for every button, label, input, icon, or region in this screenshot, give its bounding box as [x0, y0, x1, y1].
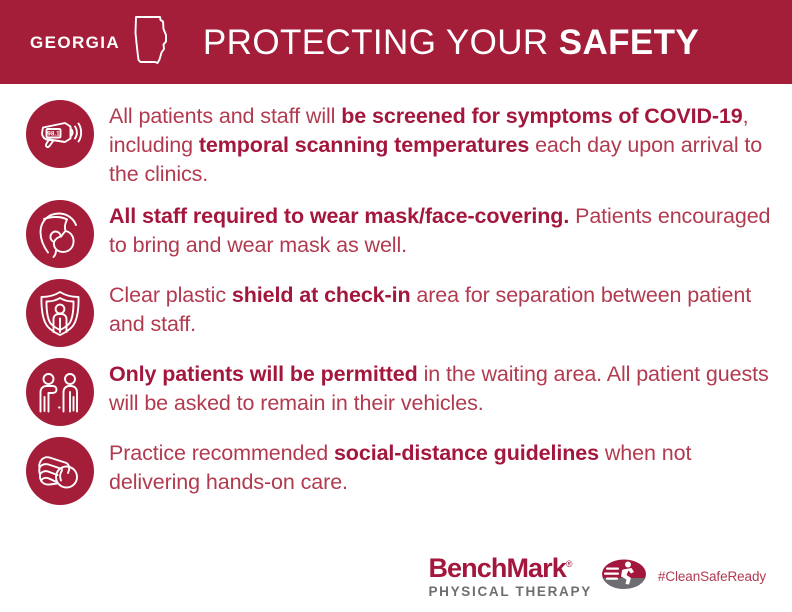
two-people-distance-icon — [26, 358, 94, 426]
benchmark-brand-subtitle: PHYSICAL THERAPY — [428, 585, 591, 599]
benchmark-brand-name: BenchMark® — [428, 555, 571, 582]
list-item: All staff required to wear mask/face-cov… — [26, 198, 778, 268]
safety-poster: GEORGIA PROTECTING YOUR SAFETY — [0, 0, 792, 612]
list-item-text: Practice recommended social-distance gui… — [94, 435, 778, 497]
benchmark-runner-swoosh-icon — [601, 557, 647, 596]
text-segment-bold: Only patients will be permitted — [109, 362, 418, 386]
list-item: Only patients will be permitted in the w… — [26, 356, 778, 426]
text-segment: Practice recommended — [109, 441, 334, 465]
thermometer-reading: 98.1 — [47, 131, 60, 138]
list-item-text: All patients and staff will be screened … — [94, 98, 778, 189]
safety-measures-list: 98.1 All patients and staff will be scre… — [0, 84, 792, 505]
list-item: Practice recommended social-distance gui… — [26, 435, 778, 505]
text-segment-bold: shield at check-in — [232, 283, 411, 307]
list-item-text: Clear plastic shield at check-in area fo… — [94, 277, 778, 339]
text-segment-bold: temporal scanning temperatures — [199, 133, 529, 157]
list-item-text: Only patients will be permitted in the w… — [94, 356, 778, 418]
shield-person-icon — [26, 279, 94, 347]
list-item-text: All staff required to wear mask/face-cov… — [94, 198, 778, 260]
thermometer-gun-icon: 98.1 — [26, 100, 94, 168]
page-title-regular: PROTECTING YOUR — [203, 23, 559, 62]
page-title: PROTECTING YOUR SAFETY — [170, 25, 768, 60]
face-mask-profile-icon — [26, 200, 94, 268]
text-segment: All patients and staff will — [109, 104, 341, 128]
list-item: 98.1 All patients and staff will be scre… — [26, 98, 778, 189]
footer-branding: BenchMark® PHYSICAL THERAPY #CleanSafeRe… — [428, 555, 766, 599]
georgia-label: GEORGIA — [30, 34, 120, 51]
manual-therapy-hands-icon — [26, 437, 94, 505]
list-item: Clear plastic shield at check-in area fo… — [26, 277, 778, 347]
page-title-bold: SAFETY — [559, 23, 699, 62]
georgia-state-outline-icon — [130, 13, 170, 72]
georgia-brand-lockup: GEORGIA — [30, 13, 170, 72]
text-segment-bold: All staff required to wear mask/face-cov… — [109, 204, 569, 228]
text-segment-bold: social-distance guidelines — [334, 441, 599, 465]
benchmark-wordmark: BenchMark® PHYSICAL THERAPY — [428, 555, 591, 599]
benchmark-brand-text: BenchMark — [428, 553, 565, 583]
clean-safe-ready-hashtag: #CleanSafeReady — [658, 569, 766, 584]
text-segment-bold: be screened for symptoms of COVID-19 — [341, 104, 742, 128]
registered-trademark-icon: ® — [566, 559, 572, 569]
text-segment: Clear plastic — [109, 283, 232, 307]
poster-header: GEORGIA PROTECTING YOUR SAFETY — [0, 0, 792, 84]
